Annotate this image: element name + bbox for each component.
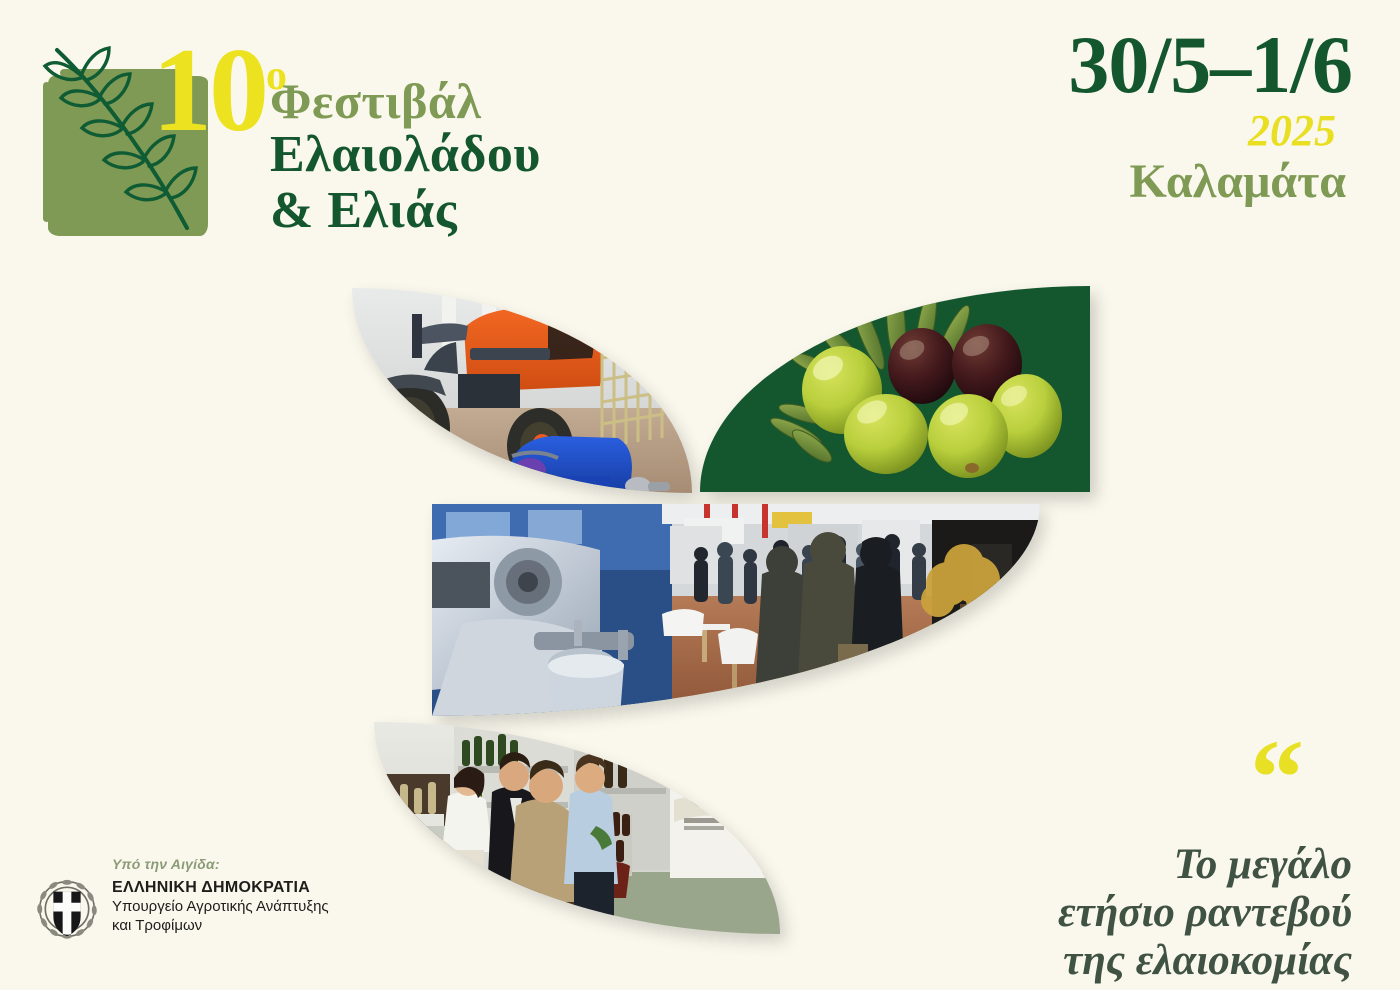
auspices-org-line2: Υπουργείο Αγροτικής Ανάπτυξης: [112, 897, 329, 916]
date-block: 30/5–1/6 2025 Καλαμάτα: [932, 24, 1352, 208]
stand-visitors-photo: [374, 722, 780, 934]
quote-line1: Το μεγάλο: [952, 841, 1352, 889]
quote-mark-icon: “: [1250, 748, 1304, 810]
quote-line2: ετήσιο ραντεβού: [952, 889, 1352, 937]
auspices-label: Υπό την Αιγίδα:: [112, 856, 329, 872]
festival-title-line2: Ελαιολάδου: [270, 126, 541, 183]
edition-number: 10ο: [152, 26, 287, 140]
festival-logo: 10ο Φεστιβάλ Ελαιολάδου & Ελιάς: [30, 18, 550, 248]
olives-panel: [700, 286, 1090, 492]
festival-title-line3: & Ελιάς: [270, 183, 541, 239]
quote-block: “ Το μεγάλο ετήσιο ραντεβού της ελαιοκομ…: [952, 748, 1352, 985]
event-year: 2025: [932, 106, 1336, 156]
quote-line3: της ελαιοκομίας: [952, 937, 1352, 985]
festival-title: Φεστιβάλ Ελαιολάδου & Ελιάς: [270, 76, 541, 239]
poster-canvas: 10ο Φεστιβάλ Ελαιολάδου & Ελιάς 30/5–1/6…: [0, 0, 1400, 990]
auspices-org-line3: και Τροφίμων: [112, 916, 329, 935]
event-city: Καλαμάτα: [932, 156, 1346, 208]
auspices-org-line1: ΕΛΛΗΝΙΚΗ ΔΗΜΟΚΡΑΤΙΑ: [112, 879, 329, 897]
festival-title-line1: Φεστιβάλ: [270, 76, 541, 126]
expo-hall-photo: [432, 504, 1040, 716]
auspices-block: Υπό την Αιγίδα: ΕΛΛΗΝΙΚΗ ΔΗΜΟΚΡΑΤΙΑ Υπου…: [36, 856, 329, 940]
event-dates: 30/5–1/6: [932, 24, 1352, 106]
tractor-machinery-photo: [352, 288, 692, 493]
greek-coat-of-arms-icon: [36, 878, 98, 940]
